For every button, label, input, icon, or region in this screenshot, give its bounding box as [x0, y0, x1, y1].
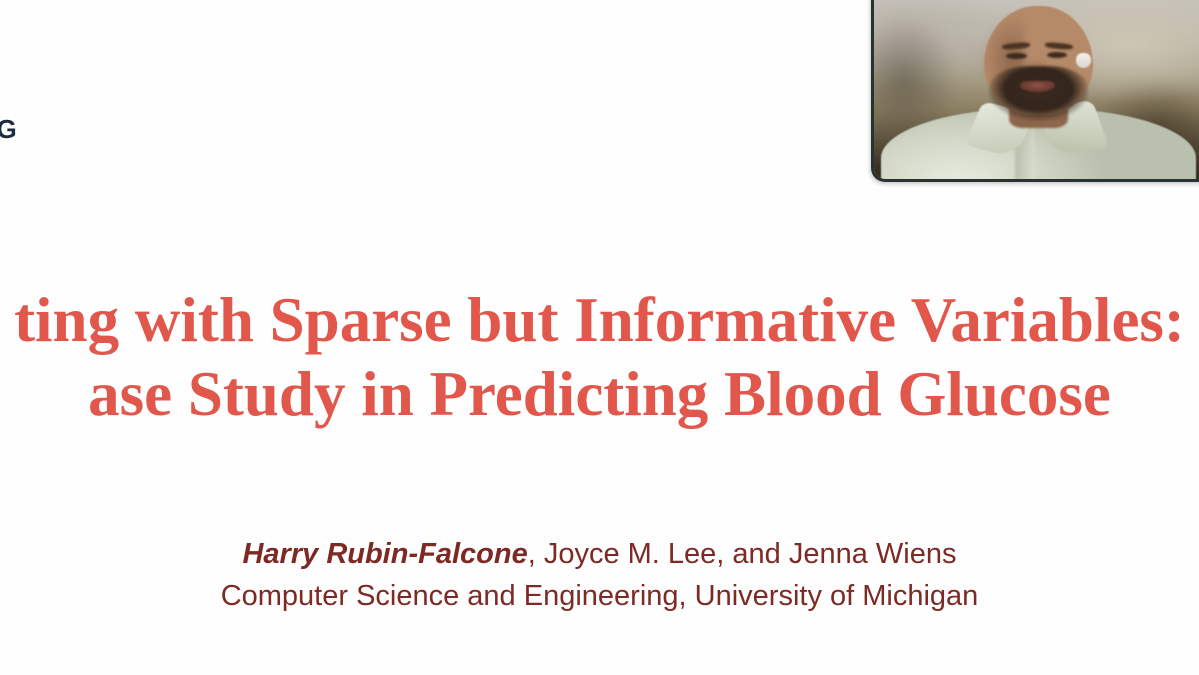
university-logo-line-2: ENCE	[0, 147, 154, 173]
presenter-mustache	[1014, 73, 1060, 81]
author-block: Harry Rubin-Falcone, Joyce M. Lee, and J…	[60, 536, 1140, 615]
slide-title-line-2: ase Study in Predicting Blood Glucose	[0, 358, 1199, 432]
author-line: Harry Rubin-Falcone, Joyce M. Lee, and J…	[60, 536, 1140, 573]
coauthor-names: , Joyce M. Lee, and Jenna Wiens	[528, 538, 957, 570]
presenter-mouth	[1020, 79, 1055, 92]
slide-title: ting with Sparse but Informative Variabl…	[0, 284, 1199, 431]
author-affiliation: Computer Science and Engineering, Univer…	[60, 578, 1140, 615]
presenter-eye-left	[1006, 53, 1026, 59]
presentation-slide: EERING ENCE GAN ting with Sparse but Inf…	[0, 0, 1199, 675]
presenter-figure	[874, 0, 1199, 179]
webcam-video-feed	[874, 0, 1199, 179]
university-logo-university-name: GAN	[0, 191, 154, 206]
presenter-webcam-overlay[interactable]	[871, 0, 1199, 182]
university-logo: EERING ENCE GAN	[0, 116, 154, 206]
slide-title-line-1: ting with Sparse but Informative Variabl…	[0, 284, 1199, 358]
presenting-author-name: Harry Rubin-Falcone	[242, 538, 527, 570]
university-logo-line-1: EERING	[0, 116, 154, 142]
